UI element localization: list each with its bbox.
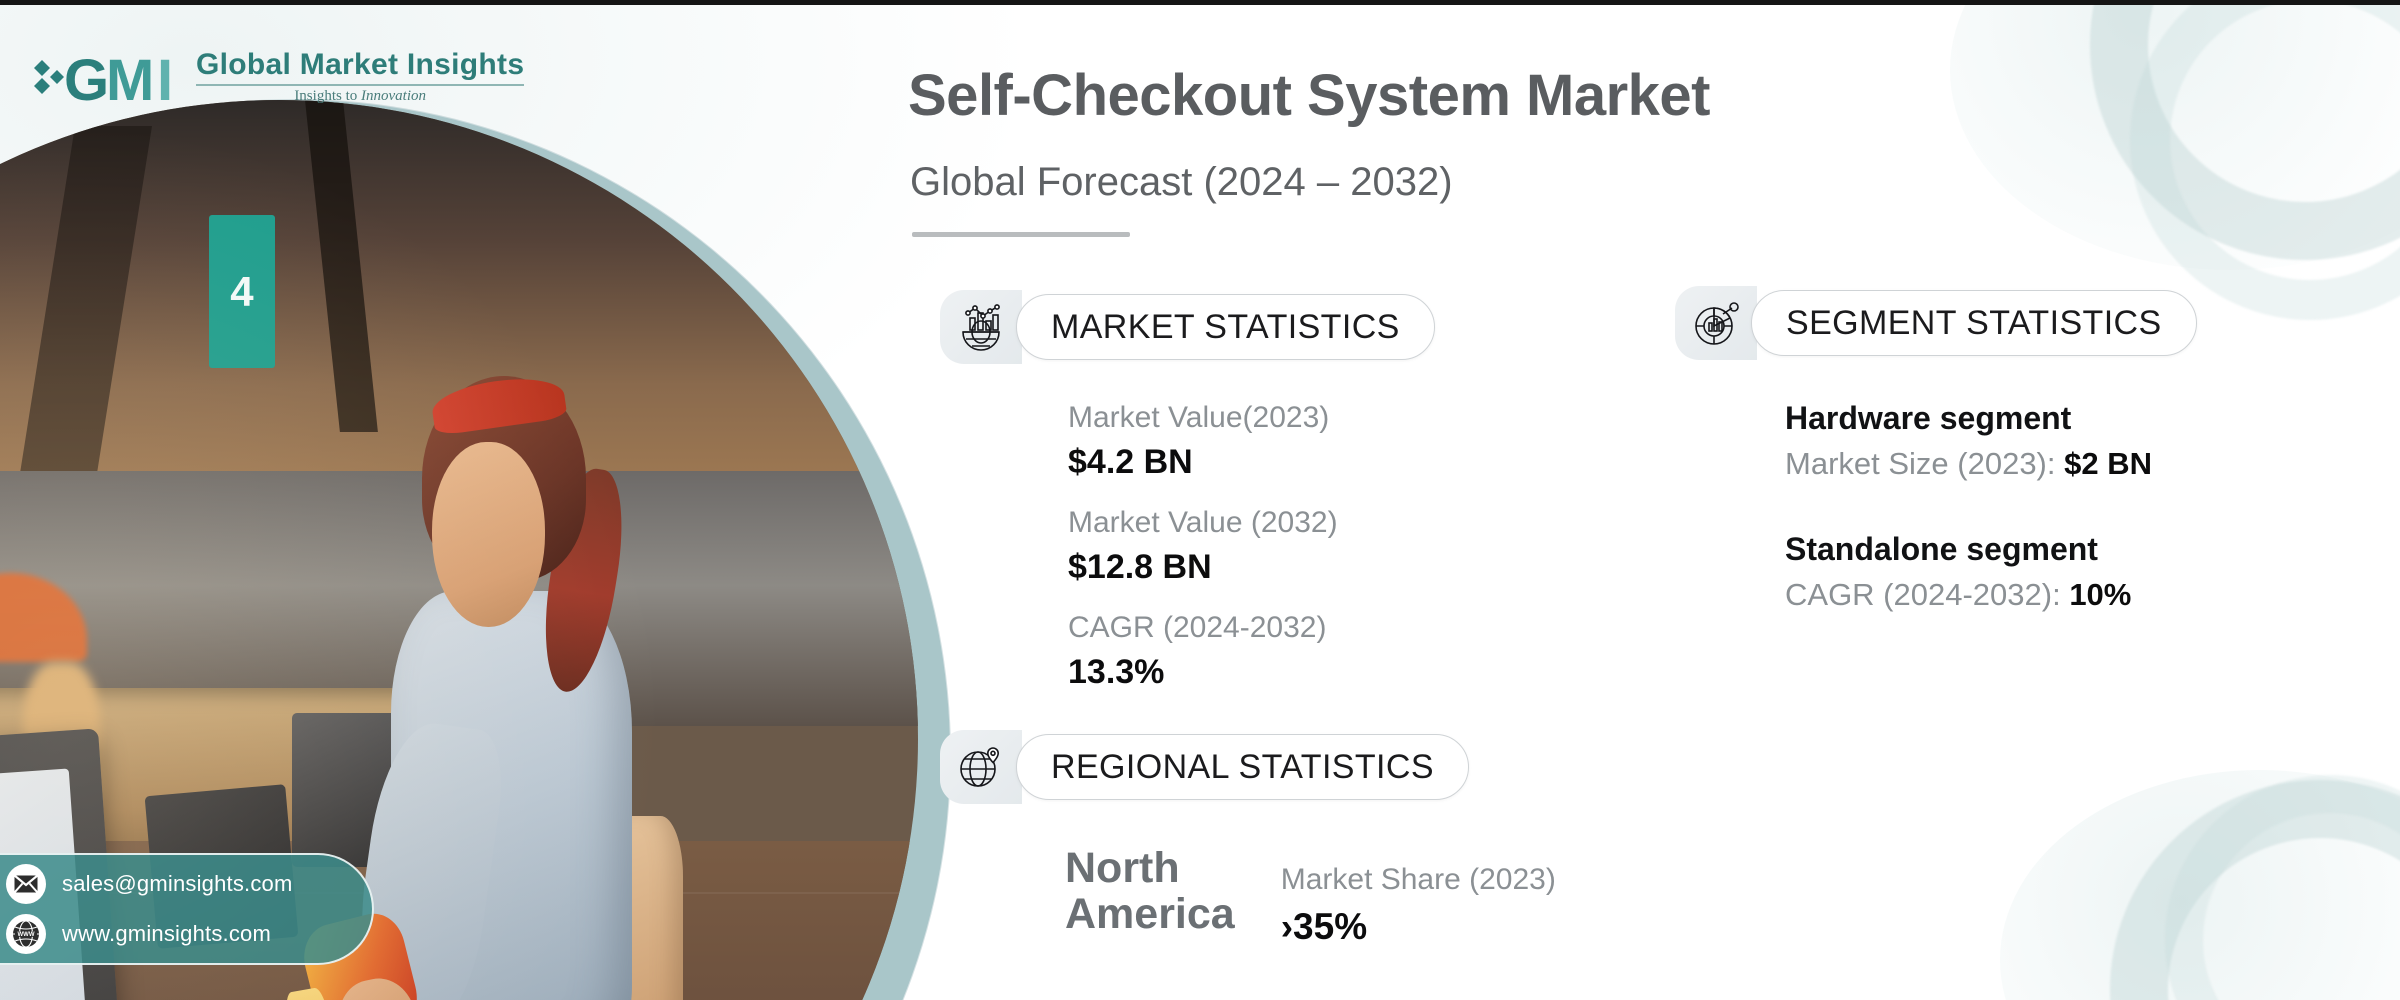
segment-statistics-header[interactable]: SEGMENT STATISTICS [1675, 286, 2197, 360]
donut-chart-icon [1675, 286, 1757, 360]
market-value-2023-value: $4.2 BN [1068, 440, 1338, 486]
gmi-logomark-icon: G M I [30, 46, 182, 108]
segment-statistics-label: SEGMENT STATISTICS [1786, 304, 2162, 343]
brand-name: Global Market Insights [196, 49, 524, 81]
contact-pill[interactable]: sales@gminsights.com WWW www.gminsights.… [0, 853, 374, 965]
svg-text:WWW: WWW [18, 932, 35, 938]
regional-statistics-header[interactable]: REGIONAL STATISTICS [940, 730, 1469, 804]
region-name-line2: America [1065, 891, 1235, 937]
infographic-canvas: sales@gminsights.com WWW www.gminsights.… [0, 0, 2400, 1000]
brand-tagline: Insights to Innovation [196, 88, 524, 105]
cagr-label: CAGR (2024-2032) [1068, 605, 1338, 650]
market-share-label: Market Share (2023) [1281, 857, 1556, 902]
market-value-2023-label: Market Value(2023) [1068, 395, 1338, 440]
regional-statistics-pill[interactable]: REGIONAL STATISTICS [1016, 734, 1469, 800]
hardware-segment-metric: Market Size (2023): $2 BN [1785, 441, 2152, 488]
standalone-segment-metric: CAGR (2024-2032): 10% [1785, 572, 2152, 619]
brand-logo[interactable]: G M I Global Market Insights Insights to… [30, 46, 524, 108]
standalone-segment-title: Standalone segment [1785, 526, 2152, 572]
region-name: North America [1065, 845, 1235, 938]
globe-bar-chart-icon [940, 290, 1022, 364]
lane-number-sign [209, 215, 275, 368]
segment-statistics-body: Hardware segment Market Size (2023): $2 … [1785, 395, 2152, 619]
contact-email-text: sales@gminsights.com [62, 871, 293, 897]
region-metric: Market Share (2023) ›35% [1281, 845, 1556, 952]
market-value-2032-label: Market Value (2032) [1068, 500, 1338, 545]
market-statistics-body: Market Value(2023) $4.2 BN Market Value … [1068, 395, 1338, 696]
market-statistics-label: MARKET STATISTICS [1051, 308, 1400, 347]
regional-statistics-body: North America Market Share (2023) ›35% [1065, 845, 1556, 952]
market-statistics-header[interactable]: MARKET STATISTICS [940, 290, 1435, 364]
market-statistics-pill[interactable]: MARKET STATISTICS [1016, 294, 1435, 360]
market-share-value: ›35% [1281, 902, 1556, 952]
region-name-line1: North [1065, 845, 1235, 891]
regional-statistics-label: REGIONAL STATISTICS [1051, 748, 1434, 787]
top-edge-strip [0, 0, 2400, 5]
svg-text:I: I [157, 48, 173, 108]
globe-pin-icon [940, 730, 1022, 804]
envelope-icon [6, 864, 46, 904]
cagr-value: 13.3% [1068, 650, 1338, 696]
contact-website-text: www.gminsights.com [62, 921, 271, 947]
www-globe-icon: WWW [6, 914, 46, 954]
segment-statistics-pill[interactable]: SEGMENT STATISTICS [1751, 290, 2197, 356]
contact-website-row[interactable]: WWW www.gminsights.com [6, 914, 362, 954]
svg-text:M: M [106, 48, 154, 108]
svg-text:G: G [64, 48, 109, 108]
content-column: Self-Checkout System Market Global Forec… [900, 0, 2400, 1000]
brand-divider [196, 84, 524, 86]
hardware-segment-title: Hardware segment [1785, 395, 2152, 441]
page-subtitle: Global Forecast (2024 – 2032) [910, 160, 1453, 205]
market-value-2032-value: $12.8 BN [1068, 545, 1338, 591]
title-underline [912, 232, 1130, 237]
page-title: Self-Checkout System Market [908, 62, 1710, 129]
contact-email-row[interactable]: sales@gminsights.com [6, 864, 362, 904]
